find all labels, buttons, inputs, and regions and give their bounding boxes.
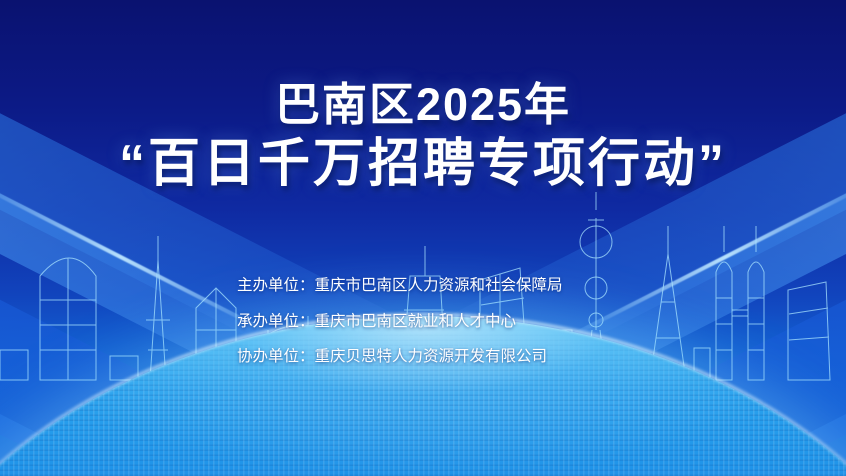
organizer-coorganizer: 协办单位：重庆贝思特人力资源开发有限公司 <box>237 349 563 365</box>
poster-banner: 巴南区2025年 “百日千万招聘专项行动” 主办单位：重庆市巴南区人力资源和社会… <box>0 0 846 476</box>
page-title: 巴南区2025年 “百日千万招聘专项行动” <box>0 82 846 191</box>
title-line-1: 巴南区2025年 <box>0 82 846 128</box>
title-line-2: “百日千万招聘专项行动” <box>0 138 846 191</box>
organizer-host: 主办单位：重庆市巴南区人力资源和社会保障局 <box>237 278 563 294</box>
organizer-operator: 承办单位：重庆市巴南区就业和人才中心 <box>237 314 563 330</box>
organizer-list: 主办单位：重庆市巴南区人力资源和社会保障局 承办单位：重庆市巴南区就业和人才中心… <box>237 278 563 365</box>
